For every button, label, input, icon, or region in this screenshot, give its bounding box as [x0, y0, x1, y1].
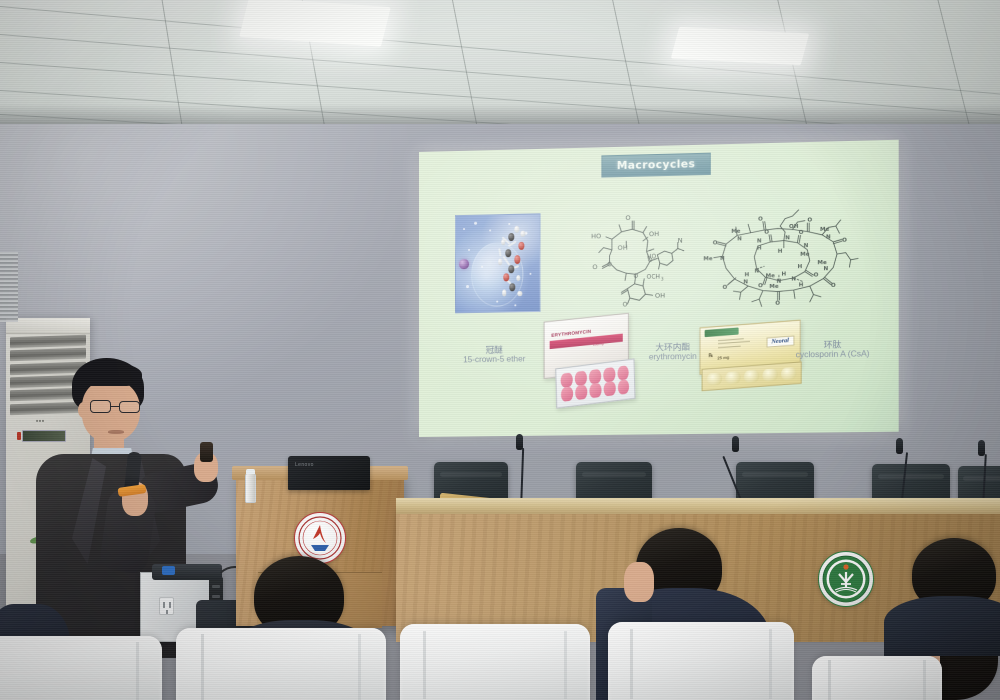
svg-text:OH: OH: [649, 230, 659, 238]
erythromycin-product-box: ERYTHROMYCIN 250mg: [544, 317, 630, 410]
svg-text:N: N: [785, 235, 790, 241]
svg-text:H: H: [757, 246, 762, 252]
caption-cyclosporin-en: cyclosporin A (CsA): [772, 349, 894, 361]
gooseneck-mic-head-1[interactable]: [516, 434, 523, 450]
neoral-green-tab: [704, 327, 738, 336]
caption-erythromycin: 大环内酯 erythromycin: [620, 341, 726, 364]
caption-crown-ether: 冠醚 15-crown-5 ether: [438, 344, 551, 367]
svg-text:Me: Me: [766, 273, 776, 279]
svg-text:OCH: OCH: [646, 275, 659, 281]
blue-device: [162, 566, 175, 575]
caption-crown-ether-en: 15-crown-5 ether: [438, 354, 551, 366]
water-bottle-cap: [246, 469, 255, 474]
audience-hand-2: [624, 562, 654, 602]
svg-text:OH: OH: [655, 292, 665, 300]
svg-text:O: O: [723, 285, 728, 291]
ac-top-cover: [6, 318, 90, 334]
svg-text:H: H: [798, 264, 803, 270]
svg-text:Me: Me: [818, 260, 828, 266]
svg-text:O: O: [622, 303, 627, 309]
table-institution-emblem: [818, 551, 874, 607]
svg-text:N: N: [754, 269, 759, 275]
svg-text:O: O: [814, 272, 819, 278]
svg-text:O: O: [758, 217, 763, 223]
audience-shoulders-4: [884, 596, 1000, 656]
svg-text:Me: Me: [800, 252, 810, 258]
svg-text:H: H: [745, 273, 750, 279]
cyclosporin-structure: Me N Me N O O O O O O O O O O O N H: [702, 193, 862, 327]
table-top-surface: [396, 498, 1000, 514]
presentation-photo-scene: Macrocycles: [0, 0, 1000, 700]
caption-erythromycin-en: erythromycin: [620, 352, 726, 364]
svg-text:O: O: [775, 301, 780, 307]
svg-text:O: O: [799, 230, 804, 236]
presenter-glasses: [90, 400, 144, 414]
svg-text:O: O: [764, 230, 769, 236]
svg-text:O: O: [592, 263, 597, 271]
wall-power-outlet[interactable]: [159, 597, 174, 615]
svg-text:O: O: [713, 241, 718, 247]
ac-power-indicator: [17, 432, 21, 440]
audience-chair-cover-4[interactable]: [608, 622, 794, 700]
presentation-clicker[interactable]: [200, 442, 213, 462]
svg-text:H: H: [799, 282, 804, 288]
svg-text:N: N: [757, 238, 762, 244]
svg-text:HO: HO: [591, 232, 601, 240]
gooseneck-mic-head-2[interactable]: [732, 436, 739, 452]
projection-screen: Macrocycles: [419, 140, 899, 437]
audience-chair-cover-3[interactable]: [400, 624, 590, 700]
presenter-fringe: [78, 362, 142, 386]
audience-chair-cover-1[interactable]: [0, 636, 162, 700]
svg-text:H: H: [778, 249, 783, 255]
svg-text:O: O: [807, 218, 812, 224]
svg-text:HO: HO: [647, 255, 657, 261]
svg-text:Me: Me: [769, 284, 779, 290]
slide-title-banner: Macrocycles: [601, 153, 711, 178]
gooseneck-mic-head-3[interactable]: [896, 438, 903, 454]
wall-vent-grill: [0, 252, 18, 322]
podium-laptop-brand: Lenovo: [295, 462, 314, 468]
svg-text:O: O: [842, 238, 847, 244]
svg-text:N: N: [720, 256, 725, 262]
svg-text:N: N: [737, 236, 742, 242]
svg-text:N: N: [677, 237, 682, 245]
ball-and-stick-model: [490, 222, 537, 304]
svg-text:3: 3: [661, 276, 664, 281]
svg-text:O: O: [831, 283, 836, 289]
audience-chair-cover-2[interactable]: [176, 628, 386, 700]
water-bottle[interactable]: [245, 473, 256, 503]
svg-text:N: N: [791, 277, 796, 283]
svg-text:OH: OH: [789, 224, 798, 230]
slide-title: Macrocycles: [617, 158, 696, 172]
svg-text:Me: Me: [703, 256, 713, 262]
svg-text:N: N: [804, 244, 809, 250]
svg-text:N: N: [824, 266, 829, 272]
erythromycin-structure: O HO OH OH O O O HO N OCH 3 OH O O: [575, 200, 695, 326]
audience-chair-cover-5[interactable]: [812, 656, 942, 700]
svg-text:Me: Me: [820, 227, 830, 233]
ceiling-light-panel-right: [671, 27, 809, 65]
presenter-ear: [78, 402, 89, 418]
svg-text:N: N: [743, 280, 748, 286]
svg-text:Me: Me: [731, 229, 741, 235]
svg-text:H: H: [782, 272, 787, 278]
svg-text:O: O: [633, 274, 638, 280]
svg-text:O: O: [758, 283, 763, 289]
caption-cyclosporin: 环肽 cyclosporin A (CsA): [772, 338, 894, 361]
svg-text:N: N: [826, 235, 831, 241]
svg-text:O: O: [607, 263, 612, 269]
svg-text:O: O: [625, 214, 630, 222]
svg-text:OH: OH: [617, 244, 627, 252]
crown-ether-molecule-image: [455, 213, 541, 313]
